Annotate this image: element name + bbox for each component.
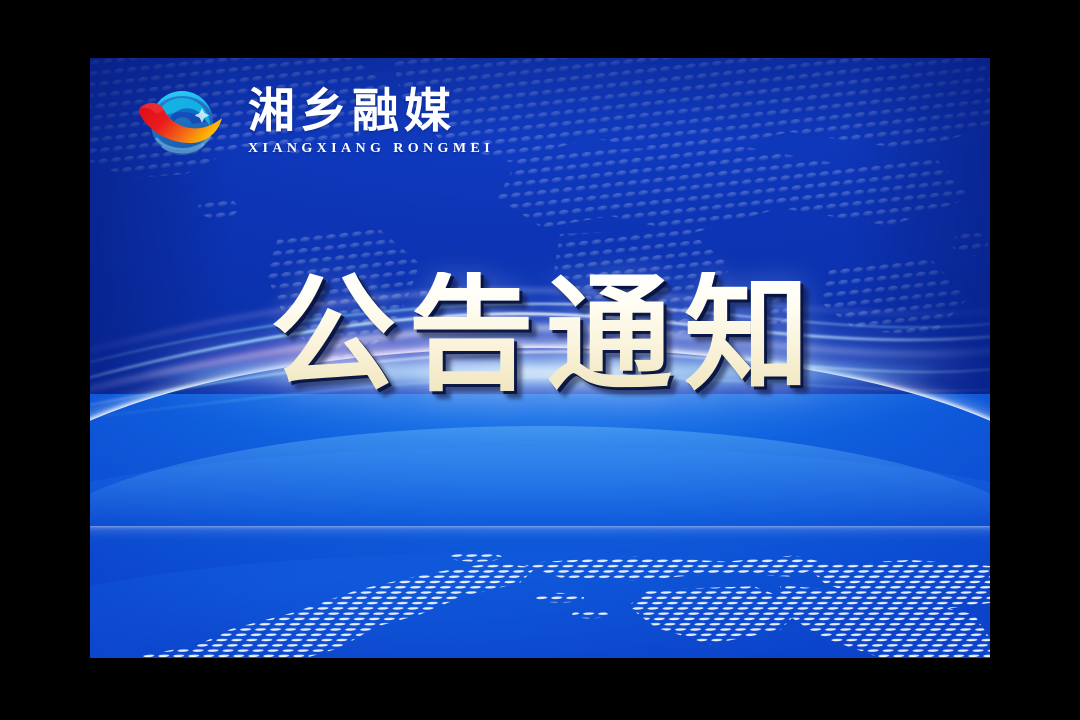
screenshot-frame: 湘乡融媒 XIANGXIANG RONGMEI 公告通知 (0, 0, 1080, 720)
halftone-world-map-globe (90, 537, 990, 658)
logo-name-cn: 湘乡融媒 (248, 87, 494, 136)
logo-wordmark: 湘乡融媒 XIANGXIANG RONGMEI (248, 85, 494, 157)
announcement-poster: 湘乡融媒 XIANGXIANG RONGMEI 公告通知 (90, 58, 990, 658)
globe-swoosh-logo-icon (130, 78, 234, 164)
globe-surface (90, 394, 990, 658)
logo[interactable]: 湘乡融媒 XIANGXIANG RONGMEI (130, 78, 494, 164)
page-title: 公告通知 (90, 272, 990, 398)
logo-name-en: XIANGXIANG RONGMEI (248, 141, 494, 157)
